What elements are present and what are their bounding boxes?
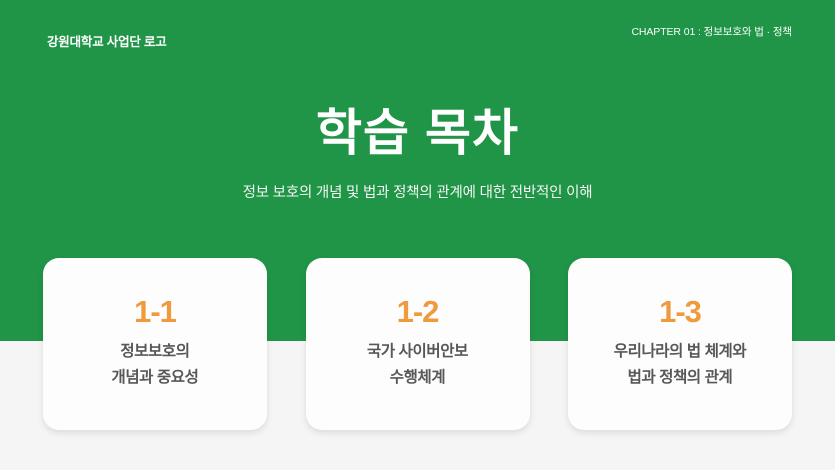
topic-card-number: 1-3: [659, 294, 701, 330]
chapter-label: CHAPTER 01 : 정보보호와 법 · 정책: [631, 25, 792, 39]
topic-card-label: 우리나라의 법 체계와 법과 정책의 관계: [614, 339, 747, 391]
topic-card-list: 1-1 정보보호의 개념과 중요성 1-2 국가 사이버안보 수행체계 1-3 …: [43, 258, 792, 430]
topic-card-label: 정보보호의 개념과 중요성: [111, 339, 198, 391]
topic-card-1-2[interactable]: 1-2 국가 사이버안보 수행체계: [306, 258, 530, 430]
slide-root: 강원대학교 사업단 로고 CHAPTER 01 : 정보보호와 법 · 정책 학…: [0, 0, 835, 470]
page-subtitle: 정보 보호의 개념 및 법과 정책의 관계에 대한 전반적인 이해: [0, 182, 835, 204]
topic-card-label: 국가 사이버안보 수행체계: [367, 339, 468, 391]
topic-card-number: 1-1: [134, 294, 176, 330]
topic-card-1-1[interactable]: 1-1 정보보호의 개념과 중요성: [43, 258, 267, 430]
organization-logo-text: 강원대학교 사업단 로고: [47, 34, 167, 50]
page-title: 학습 목차: [0, 100, 835, 166]
topic-card-number: 1-2: [397, 294, 439, 330]
topic-card-1-3[interactable]: 1-3 우리나라의 법 체계와 법과 정책의 관계: [568, 258, 792, 430]
